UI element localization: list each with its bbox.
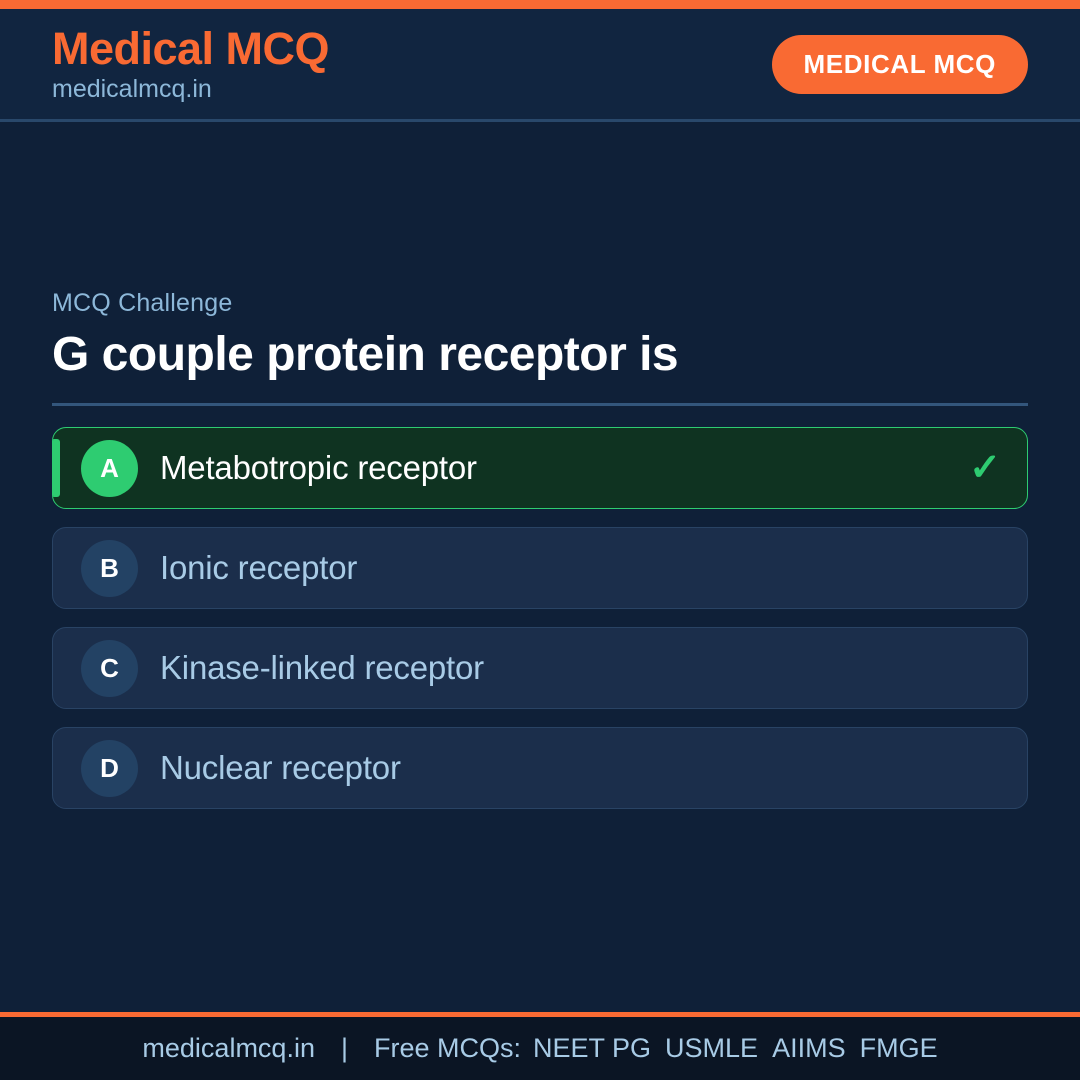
footer-exam-neet-pg[interactable]: NEET PG: [533, 1033, 651, 1064]
brand-title: Medical MCQ: [52, 26, 329, 71]
top-accent-bar: [0, 0, 1080, 9]
footer-exam-aiims[interactable]: AIIMS: [772, 1033, 846, 1064]
option-a-badge: A: [81, 440, 138, 497]
option-d[interactable]: D Nuclear receptor ✓: [52, 727, 1028, 809]
brand: Medical MCQ medicalmcq.in: [52, 26, 329, 102]
header: Medical MCQ medicalmcq.in MEDICAL MCQ: [0, 9, 1080, 122]
option-b[interactable]: B Ionic receptor ✓: [52, 527, 1028, 609]
question-block: MCQ Challenge G couple protein receptor …: [52, 289, 1028, 810]
footer-label: Free MCQs:: [374, 1033, 521, 1064]
question-divider: [52, 403, 1028, 406]
brand-subtitle: medicalmcq.in: [52, 77, 329, 102]
footer-exam-usmle[interactable]: USMLE: [665, 1033, 758, 1064]
eyebrow-label: MCQ Challenge: [52, 289, 1028, 318]
question-text: G couple protein receptor is: [52, 328, 1028, 382]
options-list: A Metabotropic receptor ✓ B Ionic recept…: [52, 427, 1028, 809]
main-content: MCQ Challenge G couple protein receptor …: [0, 122, 1080, 1012]
footer-site-link[interactable]: medicalmcq.in: [142, 1033, 315, 1064]
option-c-label: Kinase-linked receptor: [160, 649, 1001, 687]
option-a[interactable]: A Metabotropic receptor ✓: [52, 427, 1028, 509]
header-badge: MEDICAL MCQ: [772, 35, 1028, 94]
option-c[interactable]: C Kinase-linked receptor ✓: [52, 627, 1028, 709]
correct-accent-bar: [53, 439, 60, 497]
footer-separator: |: [341, 1033, 348, 1064]
option-b-label: Ionic receptor: [160, 549, 1001, 587]
mcq-card: Medical MCQ medicalmcq.in MEDICAL MCQ MC…: [0, 0, 1080, 1080]
footer: medicalmcq.in | Free MCQs: NEET PG USMLE…: [0, 1012, 1080, 1080]
option-a-label: Metabotropic receptor: [160, 449, 969, 487]
footer-exam-fmge[interactable]: FMGE: [860, 1033, 938, 1064]
option-b-badge: B: [81, 540, 138, 597]
option-d-label: Nuclear receptor: [160, 749, 1001, 787]
check-icon: ✓: [969, 449, 1001, 487]
option-d-badge: D: [81, 740, 138, 797]
footer-text: medicalmcq.in | Free MCQs: NEET PG USMLE…: [142, 1033, 937, 1064]
option-c-badge: C: [81, 640, 138, 697]
